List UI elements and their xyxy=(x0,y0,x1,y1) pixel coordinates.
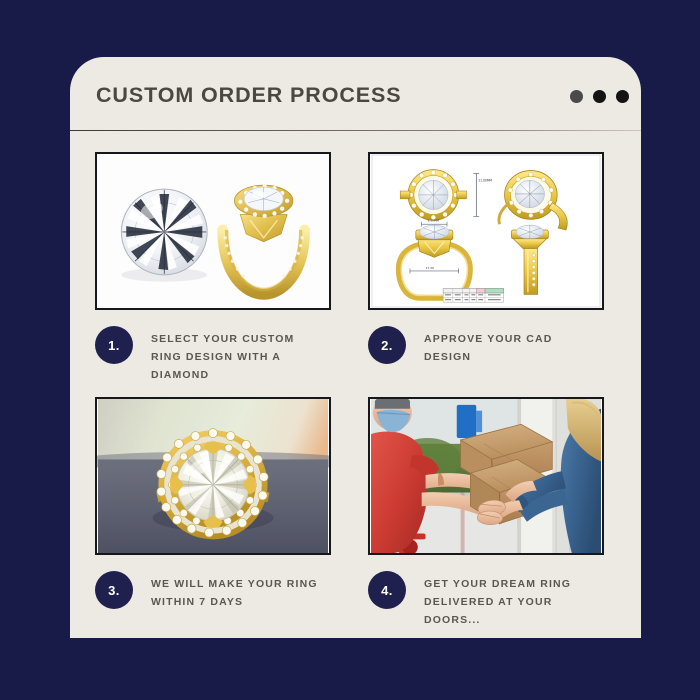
step-3-number-badge: 3. xyxy=(95,571,133,609)
step-3-label: WE WILL MAKE YOUR RING WITHIN 7 DAYS xyxy=(151,575,319,611)
step-1-caption-row: 1. SELECT YOUR CUSTOM RING DESIGN WITH A… xyxy=(95,326,331,384)
card-header: CUSTOM ORDER PROCESS xyxy=(70,57,641,130)
process-step-1: 1. SELECT YOUR CUSTOM RING DESIGN WITH A… xyxy=(95,152,331,384)
window-dot-2-icon[interactable] xyxy=(593,90,606,103)
step-3-caption-row: 3. WE WILL MAKE YOUR RING WITHIN 7 DAYS xyxy=(95,571,331,611)
step-2-image-frame: 11.00MM xyxy=(368,152,604,310)
step-4-caption-row: 4. GET YOUR DREAM RING DELIVERED AT YOUR… xyxy=(368,571,604,629)
cad-design-technical-drawing-icon: 11.00MM xyxy=(370,154,602,308)
step-4-label: GET YOUR DREAM RING DELIVERED AT YOUR DO… xyxy=(424,575,592,629)
step-2-number-badge: 2. xyxy=(368,326,406,364)
svg-text:9.50MM: 9.50MM xyxy=(428,218,440,222)
finished-halo-ring-photo-icon xyxy=(97,399,329,553)
courier-delivering-boxes-photo-icon xyxy=(370,399,602,553)
svg-text:17.30: 17.30 xyxy=(426,266,434,270)
step-2-caption-row: 2. APPROVE YOUR CAD DESIGN xyxy=(368,326,604,366)
step-3-image-frame xyxy=(95,397,331,555)
step-1-number-badge: 1. xyxy=(95,326,133,364)
loose-diamond-and-gold-ring-icon xyxy=(97,154,329,308)
window-dots xyxy=(570,90,629,103)
step-2-label: APPROVE YOUR CAD DESIGN xyxy=(424,330,592,366)
step-4-image-frame xyxy=(368,397,604,555)
window-dot-3-icon[interactable] xyxy=(616,90,629,103)
svg-text:11.00MM: 11.00MM xyxy=(478,178,492,182)
custom-order-process-card: CUSTOM ORDER PROCESS xyxy=(70,57,641,638)
process-step-2: 11.00MM xyxy=(368,152,604,366)
step-1-label: SELECT YOUR CUSTOM RING DESIGN WITH A DI… xyxy=(151,330,319,384)
step-1-image-frame xyxy=(95,152,331,310)
window-dot-1-icon[interactable] xyxy=(570,90,583,103)
process-step-4: 4. GET YOUR DREAM RING DELIVERED AT YOUR… xyxy=(368,397,604,629)
header-divider xyxy=(70,130,641,131)
step-4-number-badge: 4. xyxy=(368,571,406,609)
process-step-3: 3. WE WILL MAKE YOUR RING WITHIN 7 DAYS xyxy=(95,397,331,611)
page-title: CUSTOM ORDER PROCESS xyxy=(96,83,402,108)
